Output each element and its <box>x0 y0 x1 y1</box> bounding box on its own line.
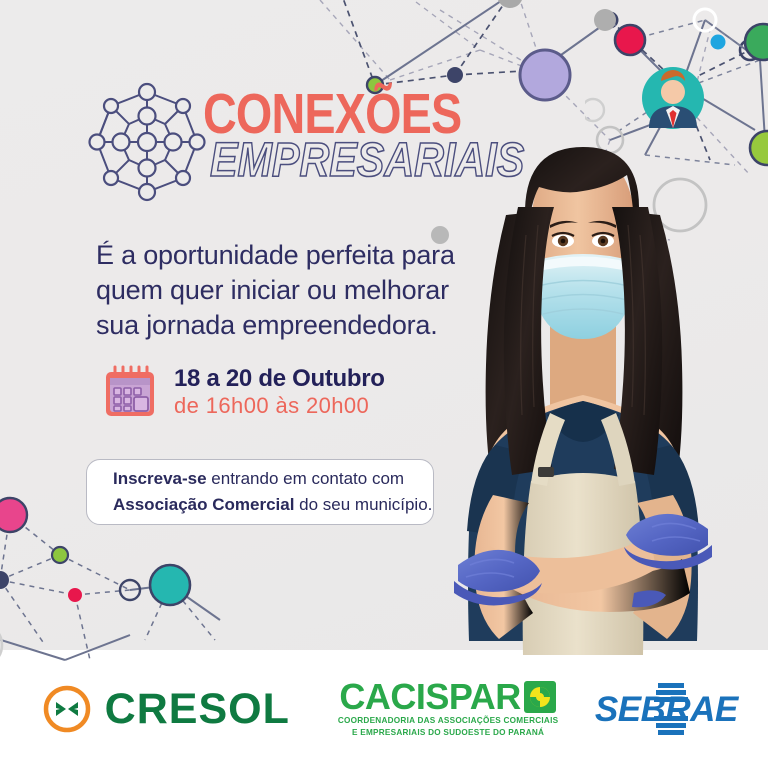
cacispar-logo[interactable]: CACISPAR COORDENADORIA DAS ASSOCIAÇÕES C… <box>338 679 558 739</box>
cacispar-spiral-icon <box>523 680 557 714</box>
event-dates: 18 a 20 de Outubro <box>174 366 385 393</box>
cta-bold-associacao: Associação Comercial <box>113 495 294 514</box>
hero-photo-woman-mask <box>398 95 768 655</box>
cta-rest-1: entrando em contato com <box>207 469 405 488</box>
sebrae-logo[interactable]: SEBRAE <box>606 683 726 735</box>
promo-poster: CONEXÕES EMPRESARIAIS <box>0 0 768 768</box>
sebrae-wordmark: SEBRAE <box>595 692 738 727</box>
lead-line-3: sua jornada empreendedora. <box>96 308 426 343</box>
cta-bold-inscreva: Inscreva-se <box>113 469 207 488</box>
cta-line-2: Associação Comercial do seu município. <box>113 492 433 518</box>
cresol-mark-icon <box>42 684 92 734</box>
event-date-block: 18 a 20 de Outubro de 16h00 às 20h00 <box>100 362 385 422</box>
footer-logos: CRESOL CACISPAR COORDENADORIA DAS ASSOCI… <box>0 650 768 768</box>
lead-line-1: É a oportunidade perfeita para <box>96 238 426 273</box>
network-hexagon-logo <box>83 78 211 206</box>
cresol-wordmark: CRESOL <box>105 688 290 731</box>
cacispar-wordmark: CACISPAR <box>339 679 520 715</box>
lead-paragraph: É a oportunidade perfeita para quem quer… <box>96 238 426 343</box>
cacispar-subtitle-1: COORDENADORIA DAS ASSOCIAÇÕES COMERCIAIS <box>338 715 558 727</box>
cta-rest-2: do seu município. <box>294 495 432 514</box>
cta-info-box[interactable]: Inscreva-se entrando em contato com Asso… <box>86 459 434 525</box>
cta-line-1: Inscreva-se entrando em contato com <box>113 466 433 492</box>
event-time: de 16h00 às 20h00 <box>174 393 385 418</box>
lead-line-2: quem quer iniciar ou melhorar <box>96 273 426 308</box>
cresol-logo[interactable]: CRESOL <box>42 684 290 734</box>
calendar-icon <box>100 362 160 422</box>
cacispar-subtitle-2: E EMPRESARIAIS DO SUDOESTE DO PARANÁ <box>352 727 544 739</box>
